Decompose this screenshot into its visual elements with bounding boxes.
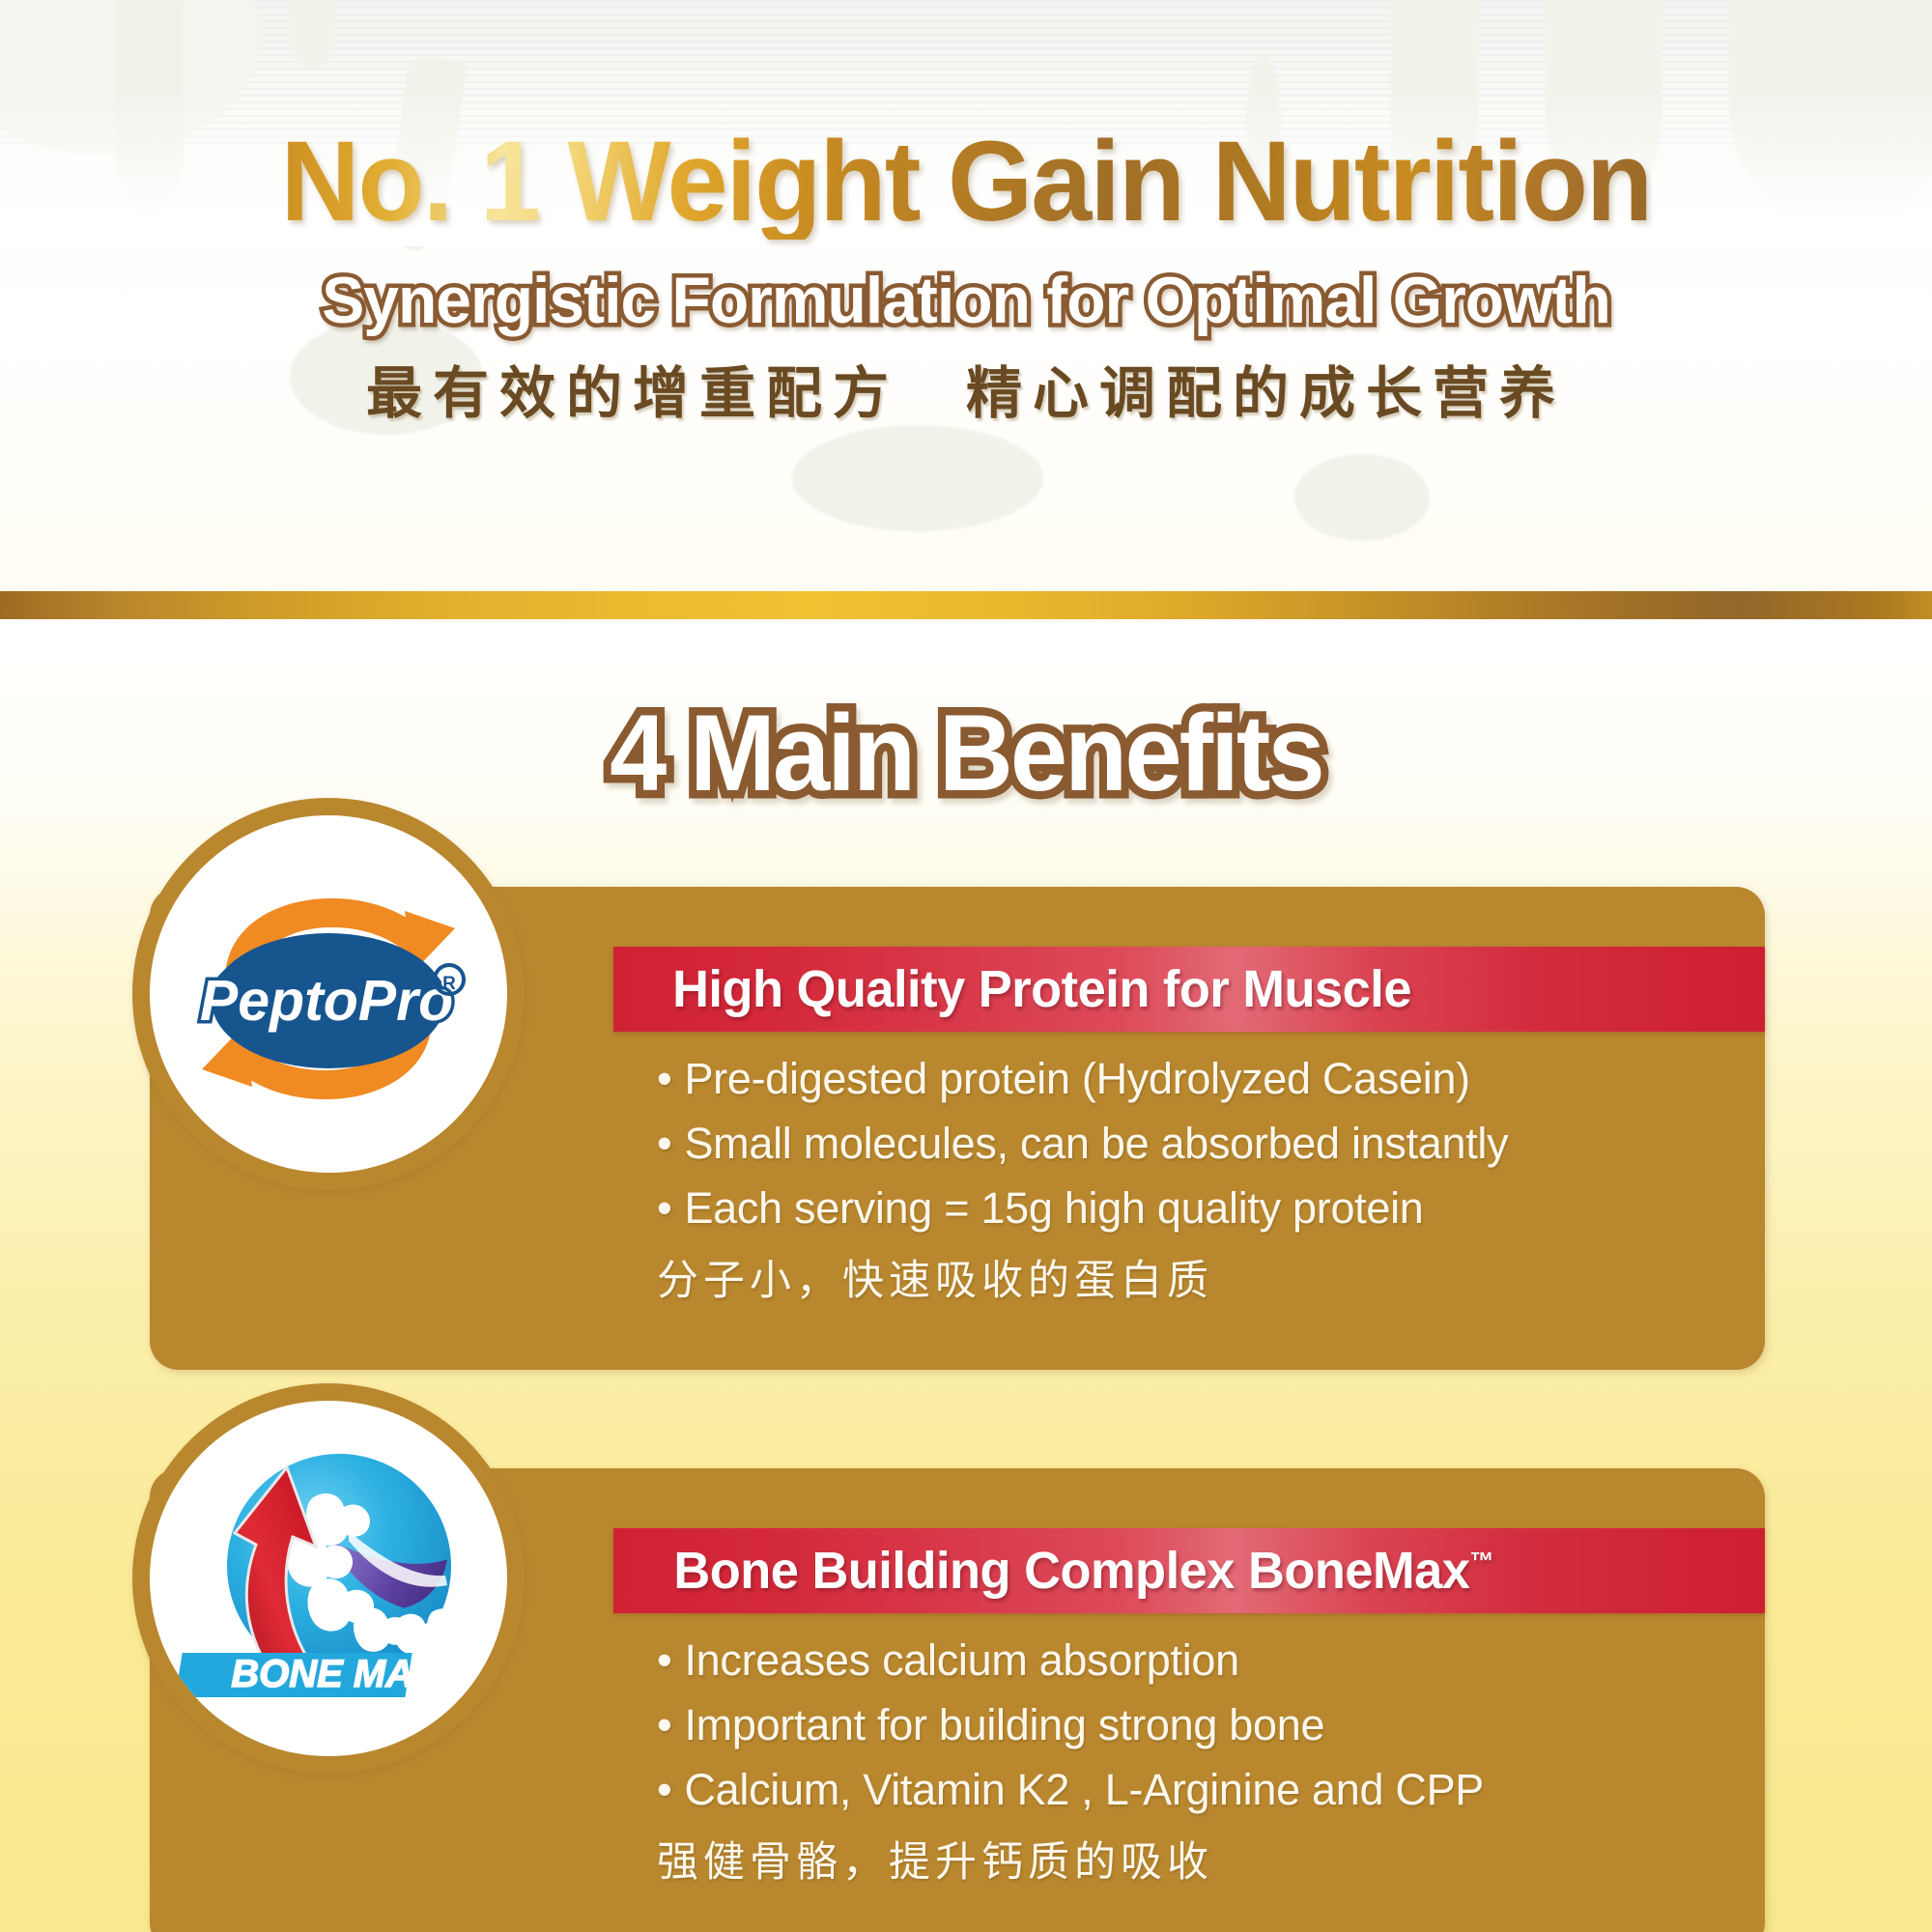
- benefit-card-bone: BONE MAX TM Bone Building Complex BoneMa…: [150, 1468, 1765, 1932]
- milk-drip: [792, 425, 1043, 531]
- list-item: •Calcium, Vitamin K2 , L-Arginine and CP…: [657, 1764, 1797, 1817]
- bonemax-wordmark: BONE MAX TM: [175, 1651, 460, 1697]
- bullet-dot-icon: •: [657, 1183, 671, 1233]
- list-item-label: Each serving = 15g high quality protein: [684, 1183, 1423, 1233]
- card-bullet-list: •Pre-digested protein (Hydrolyzed Casein…: [657, 1053, 1797, 1307]
- list-item: •Small molecules, can be absorbed instan…: [657, 1118, 1797, 1171]
- svg-text:R: R: [442, 974, 456, 994]
- bullet-dot-icon: •: [657, 1054, 671, 1103]
- svg-text:TM: TM: [434, 1651, 460, 1671]
- trademark-icon: ™: [1469, 1547, 1493, 1576]
- list-item: •Each serving = 15g high quality protein: [657, 1182, 1797, 1236]
- peptopro-logo-icon: PeptoPro R: [169, 835, 488, 1153]
- infographic-page: No. 1 Weight Gain Nutrition Synergistic …: [0, 0, 1932, 1932]
- card-bullet-list: •Increases calcium absorption •Important…: [657, 1634, 1797, 1889]
- list-item: •Pre-digested protein (Hydrolyzed Casein…: [657, 1053, 1797, 1106]
- bullet-dot-icon: •: [657, 1119, 671, 1168]
- list-item-label: Calcium, Vitamin K2 , L-Arginine and CPP: [684, 1765, 1484, 1814]
- card-chinese-text: 强健骨骼，提升钙质的吸收: [657, 1829, 1797, 1889]
- bullet-dot-icon: •: [657, 1700, 671, 1749]
- bullet-dot-icon: •: [657, 1635, 671, 1685]
- peptopro-wordmark: PeptoPro: [200, 969, 453, 1033]
- page-subtitle-chinese: 最有效的增重配方 精心调配的成长营养: [0, 348, 1932, 429]
- card-heading-bar: Bone Building Complex BoneMax™: [613, 1528, 1765, 1613]
- list-item-label: Pre-digested protein (Hydrolyzed Casein): [684, 1054, 1469, 1103]
- page-title: No. 1 Weight Gain Nutrition: [39, 124, 1893, 240]
- page-subtitle: Synergistic Formulation for Optimal Grow…: [29, 263, 1903, 338]
- milk-drip: [290, 0, 334, 68]
- bonemax-logo-icon: BONE MAX TM: [169, 1419, 488, 1738]
- svg-text:BONE MAX: BONE MAX: [231, 1653, 441, 1695]
- peptopro-logo: PeptoPro R: [132, 798, 525, 1190]
- card-heading-text: Bone Building Complex BoneMax™: [627, 1541, 1493, 1601]
- bullet-dot-icon: •: [657, 1765, 671, 1814]
- list-item-label: Increases calcium absorption: [684, 1635, 1238, 1685]
- milk-drip: [1294, 454, 1430, 541]
- list-item: •Increases calcium absorption: [657, 1634, 1797, 1688]
- list-item-label: Small molecules, can be absorbed instant…: [684, 1119, 1508, 1168]
- benefit-card-protein: PeptoPro R High Quality Protein for Musc…: [150, 887, 1765, 1370]
- card-heading-text: High Quality Protein for Muscle: [626, 959, 1411, 1019]
- bonemax-logo: BONE MAX TM: [132, 1383, 525, 1774]
- benefits-heading: 4 Main Benefits: [48, 691, 1884, 815]
- card-chinese-text: 分子小，快速吸收的蛋白质: [657, 1247, 1797, 1307]
- list-item: •Important for building strong bone: [657, 1699, 1797, 1752]
- gold-divider-bar: [0, 591, 1932, 619]
- card-heading-label: Bone Building Complex BoneMax: [673, 1542, 1469, 1600]
- list-item-label: Important for building strong bone: [684, 1700, 1324, 1749]
- card-heading-bar: High Quality Protein for Muscle: [613, 947, 1765, 1032]
